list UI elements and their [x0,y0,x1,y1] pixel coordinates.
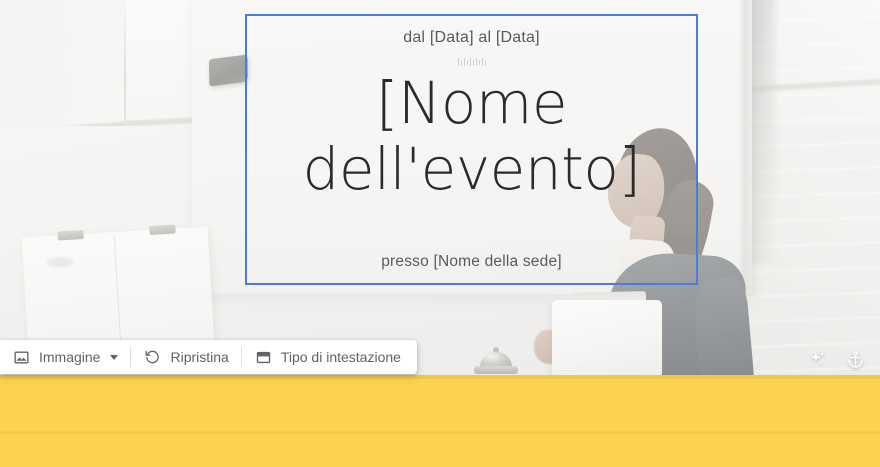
image-icon [12,348,31,367]
header-type-label: Tipo di intestazione [281,349,401,365]
flipchart-clip-left [57,230,83,241]
restore-button[interactable]: Ripristina [131,340,240,374]
event-date-line[interactable]: dal [Data] al [Data] [403,29,540,47]
event-title[interactable]: [Nome dell'evento] [237,71,707,202]
yellow-table-band [0,375,880,467]
header-type-button[interactable]: Tipo di intestazione [242,340,413,374]
header-text-block[interactable]: dal [Data] al [Data] [Nome dell'evento] … [245,14,698,285]
restore-label: Ripristina [170,349,228,365]
corner-tool-group[interactable] [807,348,866,370]
service-bell-base [474,366,518,374]
yellow-band-top-shade [0,375,880,379]
laptop [552,300,662,378]
yellow-band-edge-shade [0,431,880,434]
sparkles-icon[interactable] [807,348,829,370]
dotted-divider-icon [458,57,486,67]
image-menu-label: Immagine [39,349,100,365]
header-layout-icon [254,348,273,367]
flipchart-mark [47,257,74,269]
slide-canvas: dal [Data] al [Data] [Nome dell'evento] … [0,0,880,467]
chevron-down-icon [110,355,118,360]
image-menu-button[interactable]: Immagine [0,340,130,374]
event-venue-line[interactable]: presso [Nome della sede] [245,253,698,271]
anchor-icon[interactable] [844,348,866,370]
image-editing-toolbar[interactable]: Immagine Ripristina Tipo di intestazion [0,340,417,374]
flipchart-clip-right [149,225,175,236]
rotate-ccw-icon [143,348,162,367]
